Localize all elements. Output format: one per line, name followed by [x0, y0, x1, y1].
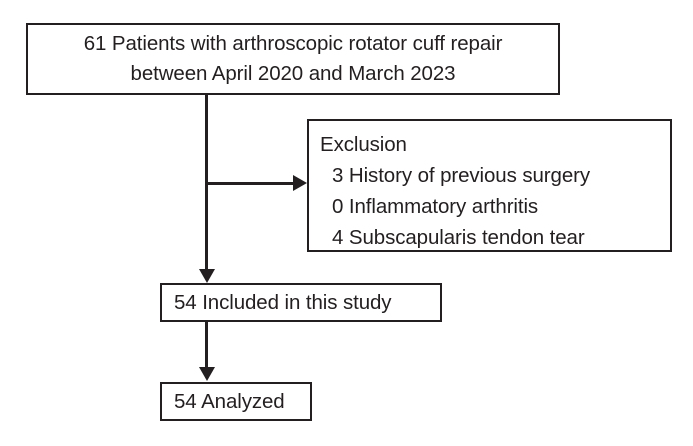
exclusion-box: Exclusion 3 History of previous surgery … [307, 119, 672, 252]
included-label: 54 Included in this study [162, 288, 391, 318]
exclusion-item: 3 History of previous surgery [309, 160, 670, 191]
patient-flow-diagram: 61 Patients with arthroscopic rotator cu… [0, 0, 693, 446]
exclusion-heading: Exclusion [309, 129, 670, 160]
enrollment-line-1: 61 Patients with arthroscopic rotator cu… [84, 29, 503, 59]
arrowhead-right-icon [293, 175, 307, 191]
arrowhead-down-icon [199, 367, 215, 381]
enrollment-box: 61 Patients with arthroscopic rotator cu… [26, 23, 560, 95]
exclusion-item: 4 Subscapularis tendon tear [309, 222, 670, 253]
analyzed-box: 54 Analyzed [160, 382, 312, 421]
exclusion-item: 0 Inflammatory arthritis [309, 191, 670, 222]
connector-enrollment-to-exclusion [205, 182, 294, 185]
analyzed-label: 54 Analyzed [162, 387, 285, 417]
enrollment-line-2: between April 2020 and March 2023 [131, 59, 456, 89]
connector-included-to-analyzed [205, 322, 208, 368]
arrowhead-down-icon [199, 269, 215, 283]
included-box: 54 Included in this study [160, 283, 442, 322]
